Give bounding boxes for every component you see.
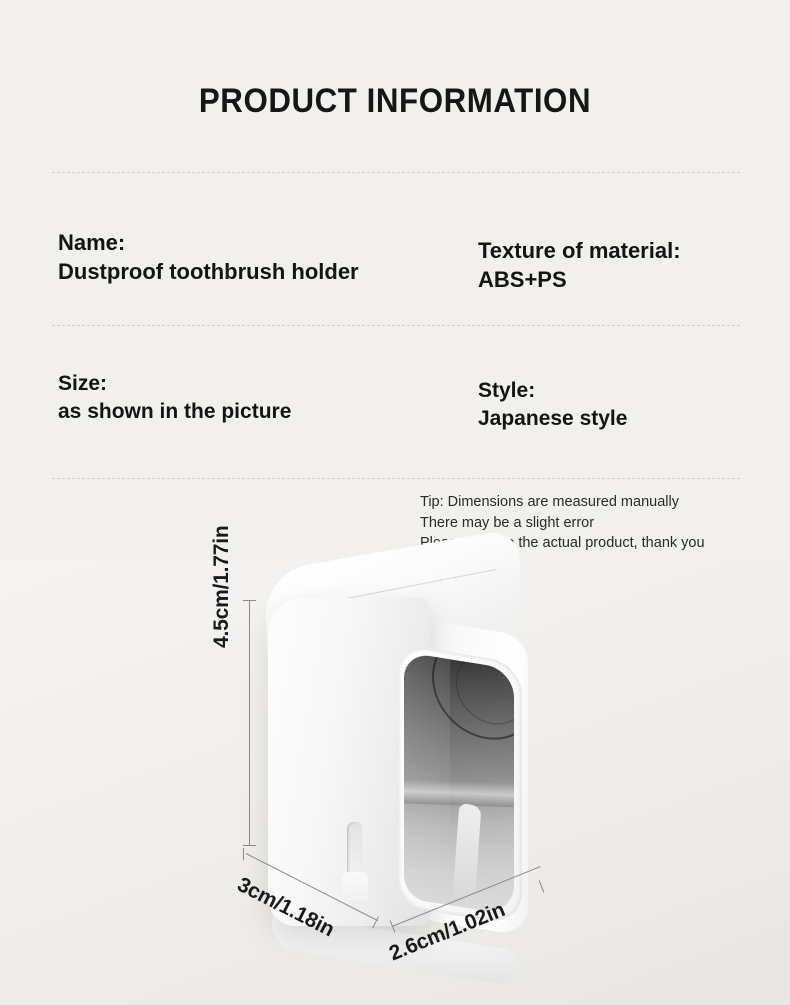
- spec-cell-name: Name: Dustproof toothbrush holder: [58, 228, 458, 287]
- spec-label-style: Style:: [478, 377, 778, 405]
- tip-line-1: Tip: Dimensions are measured manually: [420, 492, 780, 513]
- product-window-glass: [404, 652, 514, 915]
- spec-label-material: Texture of material:: [478, 236, 778, 265]
- spec-value-style: Japanese style: [478, 405, 778, 433]
- divider-middle: [52, 325, 740, 326]
- tip-line-2: There may be a slight error: [420, 513, 780, 534]
- spec-cell-style: Style: Japanese style: [478, 377, 778, 433]
- product-information-page: PRODUCT INFORMATION Name: Dustproof toot…: [0, 0, 790, 1005]
- spec-label-name: Name:: [58, 228, 458, 257]
- glass-inner-brush: [453, 802, 482, 904]
- depth-guide-cap-start: [243, 848, 244, 860]
- product-image: [0, 560, 790, 1005]
- spec-value-size: as shown in the picture: [58, 398, 458, 426]
- glass-highlight-band: [404, 779, 514, 808]
- product-illustration: [0, 560, 790, 1005]
- product-side-slot-lip: [342, 872, 368, 908]
- spec-cell-material: Texture of material: ABS+PS: [478, 236, 778, 295]
- height-guide-line: [249, 600, 250, 846]
- height-guide-cap-bottom: [243, 845, 256, 846]
- spec-label-size: Size:: [58, 370, 458, 398]
- spec-value-material: ABS+PS: [478, 265, 778, 294]
- height-guide-cap-top: [243, 600, 256, 601]
- divider-top: [52, 172, 740, 173]
- spec-cell-size: Size: as shown in the picture: [58, 370, 458, 426]
- dimension-label-height: 4.5cm/1.77in: [210, 448, 234, 648]
- spec-value-name: Dustproof toothbrush holder: [58, 257, 458, 286]
- divider-bottom: [52, 478, 740, 479]
- page-title: PRODUCT INFORMATION: [32, 82, 759, 121]
